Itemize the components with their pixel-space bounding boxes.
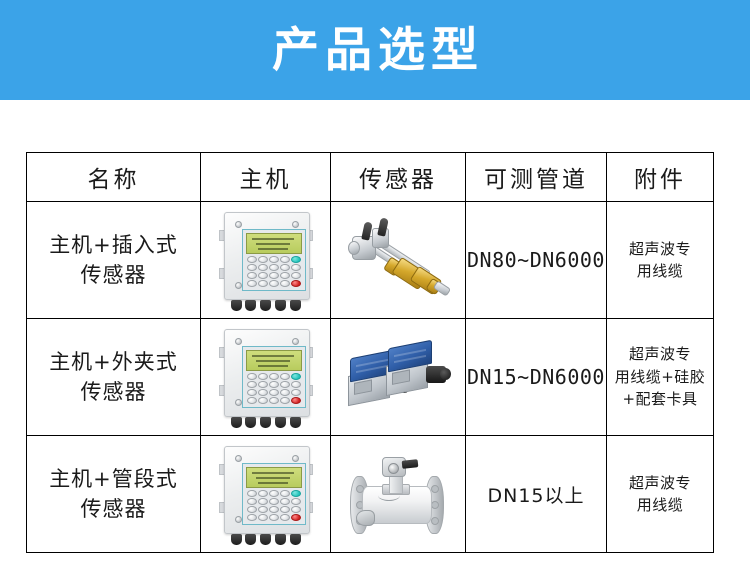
host-image-cell-row1: [201, 202, 331, 319]
lcd-text-line: [258, 248, 288, 250]
cable-gland-icon: [260, 417, 271, 428]
keypad-button: [280, 397, 290, 404]
sensor-image-cell-row1: [331, 202, 466, 319]
screw-icon: [235, 455, 242, 462]
page-header-banner: 产品选型: [0, 0, 750, 100]
cable-glands: [231, 417, 301, 429]
cable-glands: [231, 300, 301, 312]
lcd-text-line: [258, 482, 288, 484]
column-header-pipe: 可测管道: [466, 153, 607, 202]
column-header-host: 主机: [201, 153, 331, 202]
accessory-line1: 超声波专: [607, 472, 713, 495]
keypad-button: [269, 280, 279, 287]
accessory-row3: 超声波专 用线缆: [607, 436, 714, 553]
lcd-text-line: [252, 238, 294, 240]
device-body: [224, 446, 310, 534]
keypad-button: [258, 272, 268, 279]
cable-gland-icon: [260, 534, 271, 545]
keypad-button: [258, 498, 268, 505]
column-header-name: 名称: [27, 153, 201, 202]
row-name-line1: 主机+插入式: [27, 230, 200, 260]
cable-gland-icon: [231, 534, 242, 545]
keypad-button: [269, 514, 279, 521]
accessory-line1: 超声波专: [607, 238, 713, 261]
keypad-button: [291, 506, 301, 513]
pipe-transducer-boss: [356, 510, 375, 526]
device-keypad: [246, 489, 302, 522]
keypad-button: [258, 397, 268, 404]
flange-bolt-hole: [431, 517, 439, 525]
table-row: 主机+插入式 传感器: [27, 202, 714, 319]
sensor-image-cell-row2: [331, 319, 466, 436]
screw-icon: [292, 455, 299, 462]
keypad-button: [291, 389, 301, 396]
keypad-button: [247, 490, 257, 497]
screw-icon: [235, 338, 242, 345]
keypad-button-red: [291, 280, 301, 287]
accessory-line2: 用线缆: [607, 260, 713, 283]
keypad-button: [247, 381, 257, 388]
keypad-button: [247, 498, 257, 505]
host-image-cell-row2: [201, 319, 331, 436]
transmitter-antenna-icon: [402, 459, 419, 469]
insertion-sensor-image: [342, 214, 454, 306]
keypad-button: [247, 389, 257, 396]
device-body: [224, 329, 310, 417]
keypad-button: [269, 506, 279, 513]
product-selection-table: 名称 主机 传感器 可测管道 附件 主机+插入式 传感器: [26, 152, 714, 553]
keypad-button: [258, 389, 268, 396]
keypad-button: [291, 264, 301, 271]
keypad-button: [258, 256, 268, 263]
keypad-button: [269, 389, 279, 396]
keypad-button: [280, 373, 290, 380]
keypad-button: [269, 256, 279, 263]
keypad-button: [269, 373, 279, 380]
keypad-button: [247, 264, 257, 271]
pipe-range-row1: DN80~DN6000: [466, 202, 607, 319]
keypad-button: [258, 381, 268, 388]
keypad-button-teal: [291, 373, 301, 380]
keypad-button: [280, 498, 290, 505]
keypad-button: [280, 280, 290, 287]
keypad-button: [247, 514, 257, 521]
keypad-button: [280, 506, 290, 513]
wall-mount-flowmeter-image: [218, 208, 314, 312]
keypad-button: [269, 498, 279, 505]
cable-gland-icon: [275, 300, 286, 311]
keypad-button-teal: [291, 490, 301, 497]
keypad-button: [280, 256, 290, 263]
clamp-sensor-window: [392, 369, 410, 384]
pipe-range-row2: DN15~DN6000: [466, 319, 607, 436]
accessory-row1: 超声波专 用线缆: [607, 202, 714, 319]
keypad-button: [280, 381, 290, 388]
keypad-button: [258, 506, 268, 513]
pipe-section-sensor-image: [338, 450, 458, 538]
cable-gland-icon: [260, 300, 271, 311]
lcd-display: [246, 233, 302, 254]
table-row: 主机+外夹式 传感器: [27, 319, 714, 436]
keypad-button: [258, 490, 268, 497]
keypad-button: [247, 272, 257, 279]
cable-glands: [231, 534, 301, 546]
keypad-button-teal: [291, 256, 301, 263]
lcd-display: [246, 350, 302, 371]
keypad-button: [269, 264, 279, 271]
accessory-line2: 用线缆: [607, 494, 713, 517]
accessory-line2: 用线缆+硅胶: [607, 366, 713, 389]
keypad-button: [247, 397, 257, 404]
keypad-button: [291, 381, 301, 388]
keypad-button: [280, 514, 290, 521]
column-header-accessory: 附件: [607, 153, 714, 202]
keypad-button: [258, 514, 268, 521]
lcd-text-line: [258, 365, 288, 367]
pipe-range-row3: DN15以上: [466, 436, 607, 553]
device-front-panel: [242, 229, 306, 291]
cable-gland-icon: [275, 534, 286, 545]
keypad-button: [269, 397, 279, 404]
row-name-insertion: 主机+插入式 传感器: [27, 202, 201, 319]
flange-bolt-hole: [431, 501, 439, 509]
lcd-text-line: [256, 243, 290, 245]
keypad-button: [269, 490, 279, 497]
table-header-row: 名称 主机 传感器 可测管道 附件: [27, 153, 714, 202]
lcd-display: [246, 467, 302, 488]
keypad-button: [280, 264, 290, 271]
table-row: 主机+管段式 传感器: [27, 436, 714, 553]
cable-gland-icon: [290, 534, 301, 545]
wall-mount-flowmeter-image: [218, 442, 314, 546]
accessory-row2: 超声波专 用线缆+硅胶 +配套卡具: [607, 319, 714, 436]
cable-connector-icon: [426, 366, 446, 383]
device-front-panel: [242, 346, 306, 408]
lcd-text-line: [252, 355, 294, 357]
keypad-button: [258, 373, 268, 380]
sensor-image-cell-row3: [331, 436, 466, 553]
cable-gland-icon: [231, 417, 242, 428]
row-name-pipe-section: 主机+管段式 传感器: [27, 436, 201, 553]
cable-gland-icon: [245, 534, 256, 545]
host-image-cell-row3: [201, 436, 331, 553]
keypad-button: [269, 272, 279, 279]
cable-gland-icon: [290, 300, 301, 311]
keypad-button: [269, 381, 279, 388]
clamp-on-sensor-image: [342, 338, 454, 416]
column-header-sensor: 传感器: [331, 153, 466, 202]
row-name-clamp-on: 主机+外夹式 传感器: [27, 319, 201, 436]
keypad-button: [258, 280, 268, 287]
keypad-button: [258, 264, 268, 271]
keypad-button: [280, 389, 290, 396]
lcd-text-line: [256, 360, 290, 362]
row-name-line1: 主机+外夹式: [27, 347, 200, 377]
row-name-line2: 传感器: [27, 377, 200, 407]
keypad-button: [247, 256, 257, 263]
keypad-button: [291, 498, 301, 505]
keypad-button: [247, 506, 257, 513]
cable-gland-icon: [290, 417, 301, 428]
clamp-sensor-window: [354, 379, 372, 394]
screw-icon: [292, 221, 299, 228]
device-front-panel: [242, 463, 306, 525]
keypad-button: [247, 373, 257, 380]
cable-gland-icon: [275, 417, 286, 428]
row-name-line2: 传感器: [27, 494, 200, 524]
accessory-line3: +配套卡具: [607, 388, 713, 411]
row-name-line2: 传感器: [27, 260, 200, 290]
cable-gland-icon: [245, 300, 256, 311]
keypad-button: [280, 490, 290, 497]
keypad-button: [247, 280, 257, 287]
accessory-line1: 超声波专: [607, 343, 713, 366]
device-keypad: [246, 255, 302, 288]
screw-icon: [235, 516, 242, 523]
screw-icon: [235, 399, 242, 406]
screw-icon: [235, 282, 242, 289]
keypad-button-red: [291, 397, 301, 404]
lcd-text-line: [256, 477, 290, 479]
screw-icon: [235, 221, 242, 228]
device-body: [224, 212, 310, 300]
page-title: 产品选型: [266, 27, 484, 74]
keypad-button: [291, 272, 301, 279]
product-selection-table-wrapper: 名称 主机 传感器 可测管道 附件 主机+插入式 传感器: [26, 152, 713, 552]
sensor-steel-nose: [348, 241, 360, 255]
keypad-button: [280, 272, 290, 279]
clamp-sensor-unit: [384, 344, 438, 400]
flange-bolt-hole: [431, 485, 439, 493]
screw-icon: [292, 338, 299, 345]
lcd-text-line: [252, 472, 294, 474]
cable-gland-icon: [245, 417, 256, 428]
row-name-line1: 主机+管段式: [27, 464, 200, 494]
keypad-button-red: [291, 514, 301, 521]
device-keypad: [246, 372, 302, 405]
wall-mount-flowmeter-image: [218, 325, 314, 429]
cable-gland-icon: [231, 300, 242, 311]
